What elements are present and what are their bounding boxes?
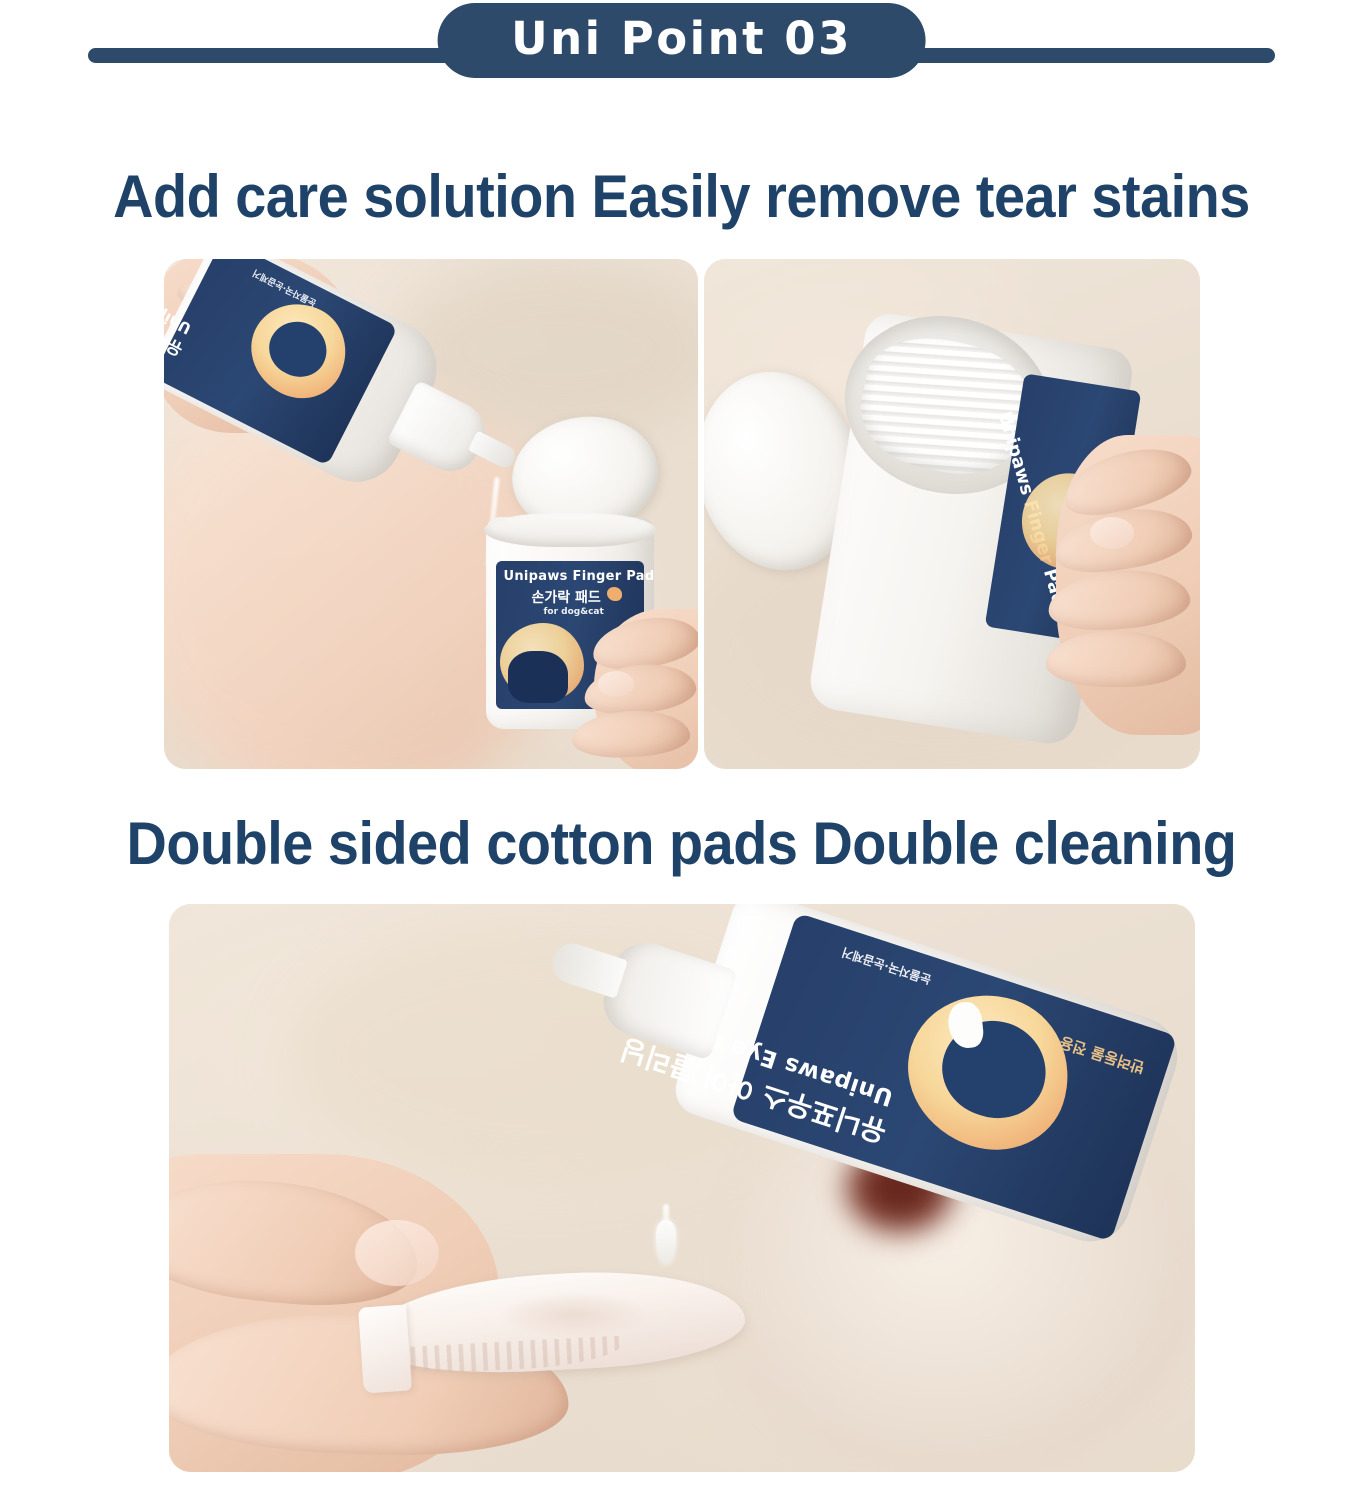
liquid-stream <box>663 1204 669 1234</box>
section-heading-1: Add care solution Easily remove tear sta… <box>48 162 1316 231</box>
jar-brand-text: Unipaws Finger Pad <box>504 569 655 584</box>
cotton-pad-wet-sheen <box>499 1292 649 1338</box>
uni-point-badge-label: Uni Point 03 <box>511 12 852 65</box>
uni-point-badge: Uni Point 03 <box>437 3 926 78</box>
jar-korean-text: 손가락 패드 <box>532 587 601 607</box>
jar-rim <box>484 513 656 547</box>
section-heading-2: Double sided cotton pads Double cleaning <box>48 809 1316 878</box>
jar-dog-silhouette <box>508 651 568 703</box>
jar-subtitle-text: for dog&cat <box>544 607 604 617</box>
header-badge-band: Uni Point 03 <box>0 0 1363 118</box>
photo-solution-onto-finger-pad: Unipaws Eye Cleaning 유니포우스 아이 클리닝 눈물자국·눈… <box>169 904 1195 1472</box>
fingernail-jar <box>598 671 634 697</box>
fingernail-thumb <box>355 1220 439 1286</box>
photo-pouring-solution-into-jar: Unipaws Eye Cleaning 유니포우스 아이 클리닝 눈물자국·눈… <box>164 259 698 769</box>
photo-row-top: Unipaws Eye Cleaning 유니포우스 아이 클리닝 눈물자국·눈… <box>0 259 1363 769</box>
fingernail-grip <box>1090 517 1134 549</box>
jar-paw-icon <box>607 587 622 601</box>
cotton-pad-fold <box>358 1304 412 1393</box>
photo-open-jar-cotton-pads: Unipaws Finger Pad <box>704 259 1200 769</box>
photo-row-bottom: Unipaws Eye Cleaning 유니포우스 아이 클리닝 눈물자국·눈… <box>0 904 1363 1472</box>
